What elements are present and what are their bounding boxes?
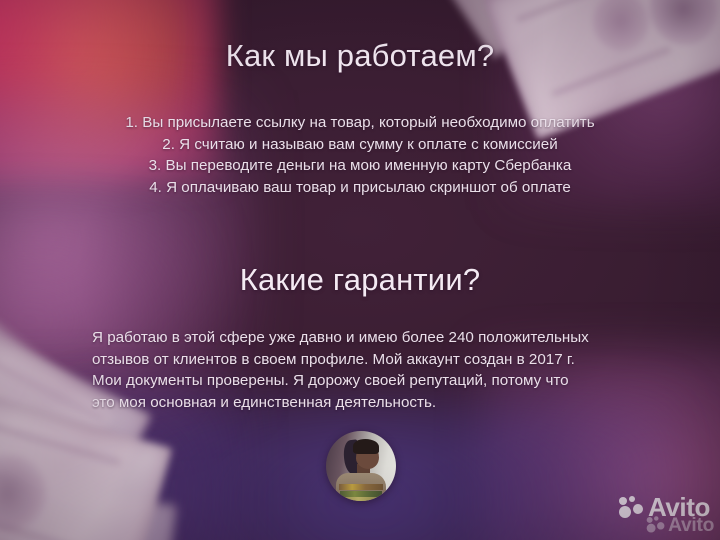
avito-dots-icon [647,516,666,532]
heading-what-guarantees: Какие гарантии? [0,262,720,298]
paragraph-line-3: Мои документы проверены. Я дорожу своей … [92,370,648,392]
paragraph-line-4: это моя основная и единственная деятельн… [92,392,648,414]
guarantee-paragraph: Я работаю в этой сфере уже давно и имею … [92,327,648,413]
step-item-2: 2. Я считаю и называю вам сумму к оплате… [0,134,720,156]
heading-how-we-work: Как мы работаем? [0,38,720,74]
paragraph-line-1: Я работаю в этой сфере уже давно и имею … [92,327,648,349]
step-item-4: 4. Я оплачиваю ваш товар и присылаю скри… [0,177,720,199]
slide-content: Как мы работаем? 1. Вы присылаете ссылку… [0,0,720,540]
avito-dots-icon [619,496,645,518]
step-item-1: 1. Вы присылаете ссылку на товар, которы… [0,112,720,134]
avito-watermark-label: Avito [668,515,714,534]
steps-list: 1. Вы присылаете ссылку на товар, которы… [0,112,720,198]
promo-slide: Как мы работаем? 1. Вы присылаете ссылку… [0,0,720,540]
avatar [326,431,396,501]
avatar-sweater-pattern [339,484,383,490]
avito-watermark-label: Avito [648,494,710,520]
avatar-sweater-pattern [344,497,380,501]
avito-watermark: Avito [619,494,710,520]
step-item-3: 3. Вы переводите деньги на мою именную к… [0,155,720,177]
paragraph-line-2: отзывов от клиентов в своем профиле. Мой… [92,349,648,371]
avito-watermark-ghost: Avito [647,515,714,534]
avatar-hair [353,439,379,454]
